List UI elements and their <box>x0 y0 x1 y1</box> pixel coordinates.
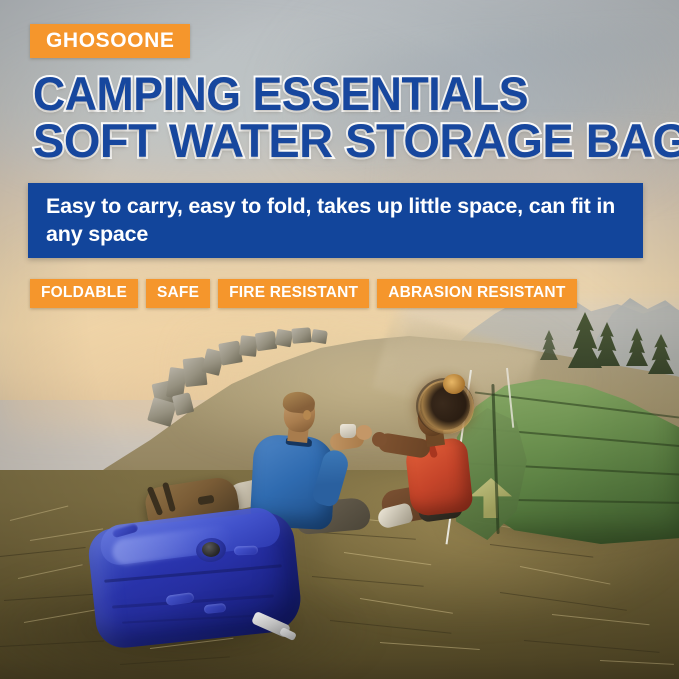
product-marketing-poster: GHOSOONE CAMPING ESSENTIALS SOFT WATER S… <box>0 0 679 679</box>
headline-line-2: SOFT WATER STORAGE BAG <box>33 113 679 168</box>
feature-tag-row: FOLDABLE SAFE FIRE RESISTANT ABRASION RE… <box>30 279 577 308</box>
feature-tag-fire-resistant: FIRE RESISTANT <box>218 279 369 308</box>
subtitle-text: Easy to carry, easy to fold, takes up li… <box>46 193 627 248</box>
subtitle-banner: Easy to carry, easy to fold, takes up li… <box>28 183 643 258</box>
feature-tag-abrasion-resistant: ABRASION RESISTANT <box>377 279 576 308</box>
feature-tag-foldable: FOLDABLE <box>30 279 138 308</box>
brand-badge: GHOSOONE <box>30 24 190 58</box>
text-overlay: GHOSOONE CAMPING ESSENTIALS SOFT WATER S… <box>0 0 679 679</box>
feature-tag-safe: SAFE <box>146 279 210 308</box>
